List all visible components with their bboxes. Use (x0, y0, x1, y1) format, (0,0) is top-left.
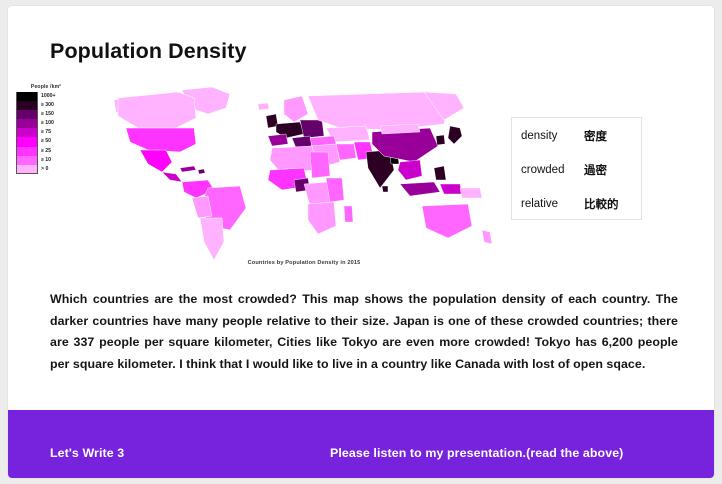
map-legend: People /km² 1000+ ≥ 300 ≥ 150 ≥ 100 ≥ 75… (16, 84, 76, 174)
legend-entry: ≥ 10 (16, 156, 76, 165)
footer-activity-label: Let's Write 3 (50, 446, 124, 460)
legend-swatch (16, 101, 38, 110)
slide-card: Population Density People /km² 1000+ ≥ 3… (8, 6, 714, 478)
world-map-figure: Countries by Population Density in 2015 (104, 84, 504, 280)
legend-label: ≥ 150 (38, 110, 54, 119)
legend-label: ≥ 100 (38, 119, 54, 128)
legend-swatch (16, 147, 38, 156)
legend-swatch (16, 165, 38, 174)
legend-entry: ≥ 25 (16, 147, 76, 156)
legend-label: ≥ 75 (38, 128, 51, 137)
vocabulary-japanese: 比較的 (584, 196, 619, 212)
vocabulary-japanese: 密度 (584, 128, 607, 144)
legend-entry: ≥ 100 (16, 119, 76, 128)
legend-label: ≥ 25 (38, 147, 51, 156)
footer-bar: Let's Write 3 Please listen to my presen… (8, 410, 714, 478)
legend-entry: ≥ 50 (16, 137, 76, 146)
legend-swatch (16, 128, 38, 137)
body-paragraph: Which countries are the most crowded? Th… (50, 289, 678, 375)
map-caption: Countries by Population Density in 2015 (104, 260, 504, 266)
vocabulary-row: density 密度 (512, 120, 641, 152)
legend-entry: ≥ 75 (16, 128, 76, 137)
world-map-image (104, 84, 504, 266)
legend-swatch (16, 156, 38, 165)
vocabulary-box: density 密度 crowded 過密 relative 比較的 (511, 117, 642, 220)
vocabulary-row: relative 比較的 (512, 188, 641, 220)
legend-label: ≥ 300 (38, 101, 54, 110)
legend-label: > 0 (38, 165, 48, 174)
legend-swatch (16, 92, 38, 101)
legend-entry: ≥ 300 (16, 101, 76, 110)
legend-entry: ≥ 150 (16, 110, 76, 119)
legend-swatch (16, 110, 38, 119)
legend-swatch (16, 137, 38, 146)
footer-instruction-label: Please listen to my presentation.(read t… (330, 446, 623, 460)
vocabulary-row: crowded 過密 (512, 154, 641, 186)
legend-title: People /km² (16, 84, 76, 90)
vocabulary-english: crowded (521, 164, 584, 176)
vocabulary-japanese: 過密 (584, 162, 607, 178)
vocabulary-english: density (521, 130, 584, 142)
legend-entry: 1000+ (16, 92, 76, 101)
legend-label: ≥ 10 (38, 156, 51, 165)
legend-label: 1000+ (38, 92, 56, 101)
vocabulary-english: relative (521, 198, 584, 210)
page-title: Population Density (50, 39, 247, 64)
legend-label: ≥ 50 (38, 137, 51, 146)
legend-entry: > 0 (16, 165, 76, 174)
legend-swatch (16, 119, 38, 128)
